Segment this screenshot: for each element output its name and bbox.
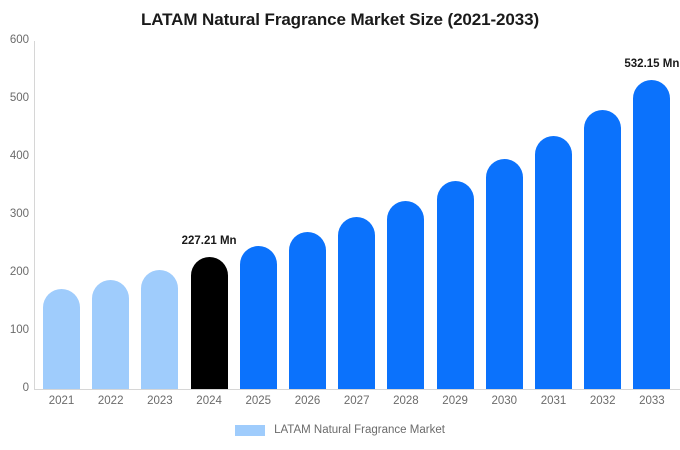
- x-axis-tick-2024: 2024: [191, 396, 228, 408]
- x-axis-tick-2027: 2027: [338, 396, 375, 408]
- bar-2028[interactable]: [387, 201, 424, 390]
- bar-2030[interactable]: [486, 159, 523, 389]
- y-axis-tick-300: 300: [0, 209, 29, 221]
- bar-2029[interactable]: [437, 181, 474, 389]
- x-axis-tick-2028: 2028: [387, 396, 424, 408]
- x-axis-tick-2021: 2021: [43, 396, 80, 408]
- bar-2033[interactable]: [633, 80, 670, 389]
- bar-2023[interactable]: [141, 270, 178, 389]
- legend-item-latam-natural-fragrance-market[interactable]: LATAM Natural Fragrance Market: [235, 425, 445, 437]
- y-axis-tick-0: 0: [0, 383, 29, 395]
- bar-2026[interactable]: [289, 232, 326, 389]
- x-axis-tick-2026: 2026: [289, 396, 326, 408]
- bar-2024[interactable]: [191, 257, 228, 389]
- bar-chart: LATAM Natural Fragrance Market Size (202…: [0, 0, 680, 450]
- legend-swatch-icon: [235, 425, 265, 436]
- bar-2031[interactable]: [535, 136, 572, 389]
- legend-label: LATAM Natural Fragrance Market: [274, 425, 445, 437]
- y-axis-tick-600: 600: [0, 35, 29, 47]
- x-axis-line: [34, 389, 680, 390]
- chart-title: LATAM Natural Fragrance Market Size (202…: [0, 10, 680, 30]
- y-axis-tick-400: 400: [0, 151, 29, 163]
- x-axis-tick-2025: 2025: [240, 396, 277, 408]
- x-axis-tick-2023: 2023: [141, 396, 178, 408]
- chart-legend: LATAM Natural Fragrance Market: [0, 425, 680, 437]
- x-axis-tick-2033: 2033: [633, 396, 670, 408]
- bar-2022[interactable]: [92, 280, 129, 389]
- plot-area: 227.21 Mn532.15 Mn: [34, 41, 680, 389]
- bar-2025[interactable]: [240, 246, 277, 389]
- bar-value-label-2033: 532.15 Mn: [622, 59, 680, 71]
- y-axis-tick-500: 500: [0, 93, 29, 105]
- x-axis-tick-2022: 2022: [92, 396, 129, 408]
- y-axis-tick-100: 100: [0, 325, 29, 337]
- x-axis-tick-2032: 2032: [584, 396, 621, 408]
- bar-2027[interactable]: [338, 217, 375, 389]
- bar-2021[interactable]: [43, 289, 80, 389]
- bar-value-label-2024: 227.21 Mn: [179, 236, 239, 248]
- bar-2032[interactable]: [584, 110, 621, 389]
- y-axis-tick-200: 200: [0, 267, 29, 279]
- x-axis-tick-2031: 2031: [535, 396, 572, 408]
- x-axis-tick-2029: 2029: [437, 396, 474, 408]
- x-axis-tick-2030: 2030: [486, 396, 523, 408]
